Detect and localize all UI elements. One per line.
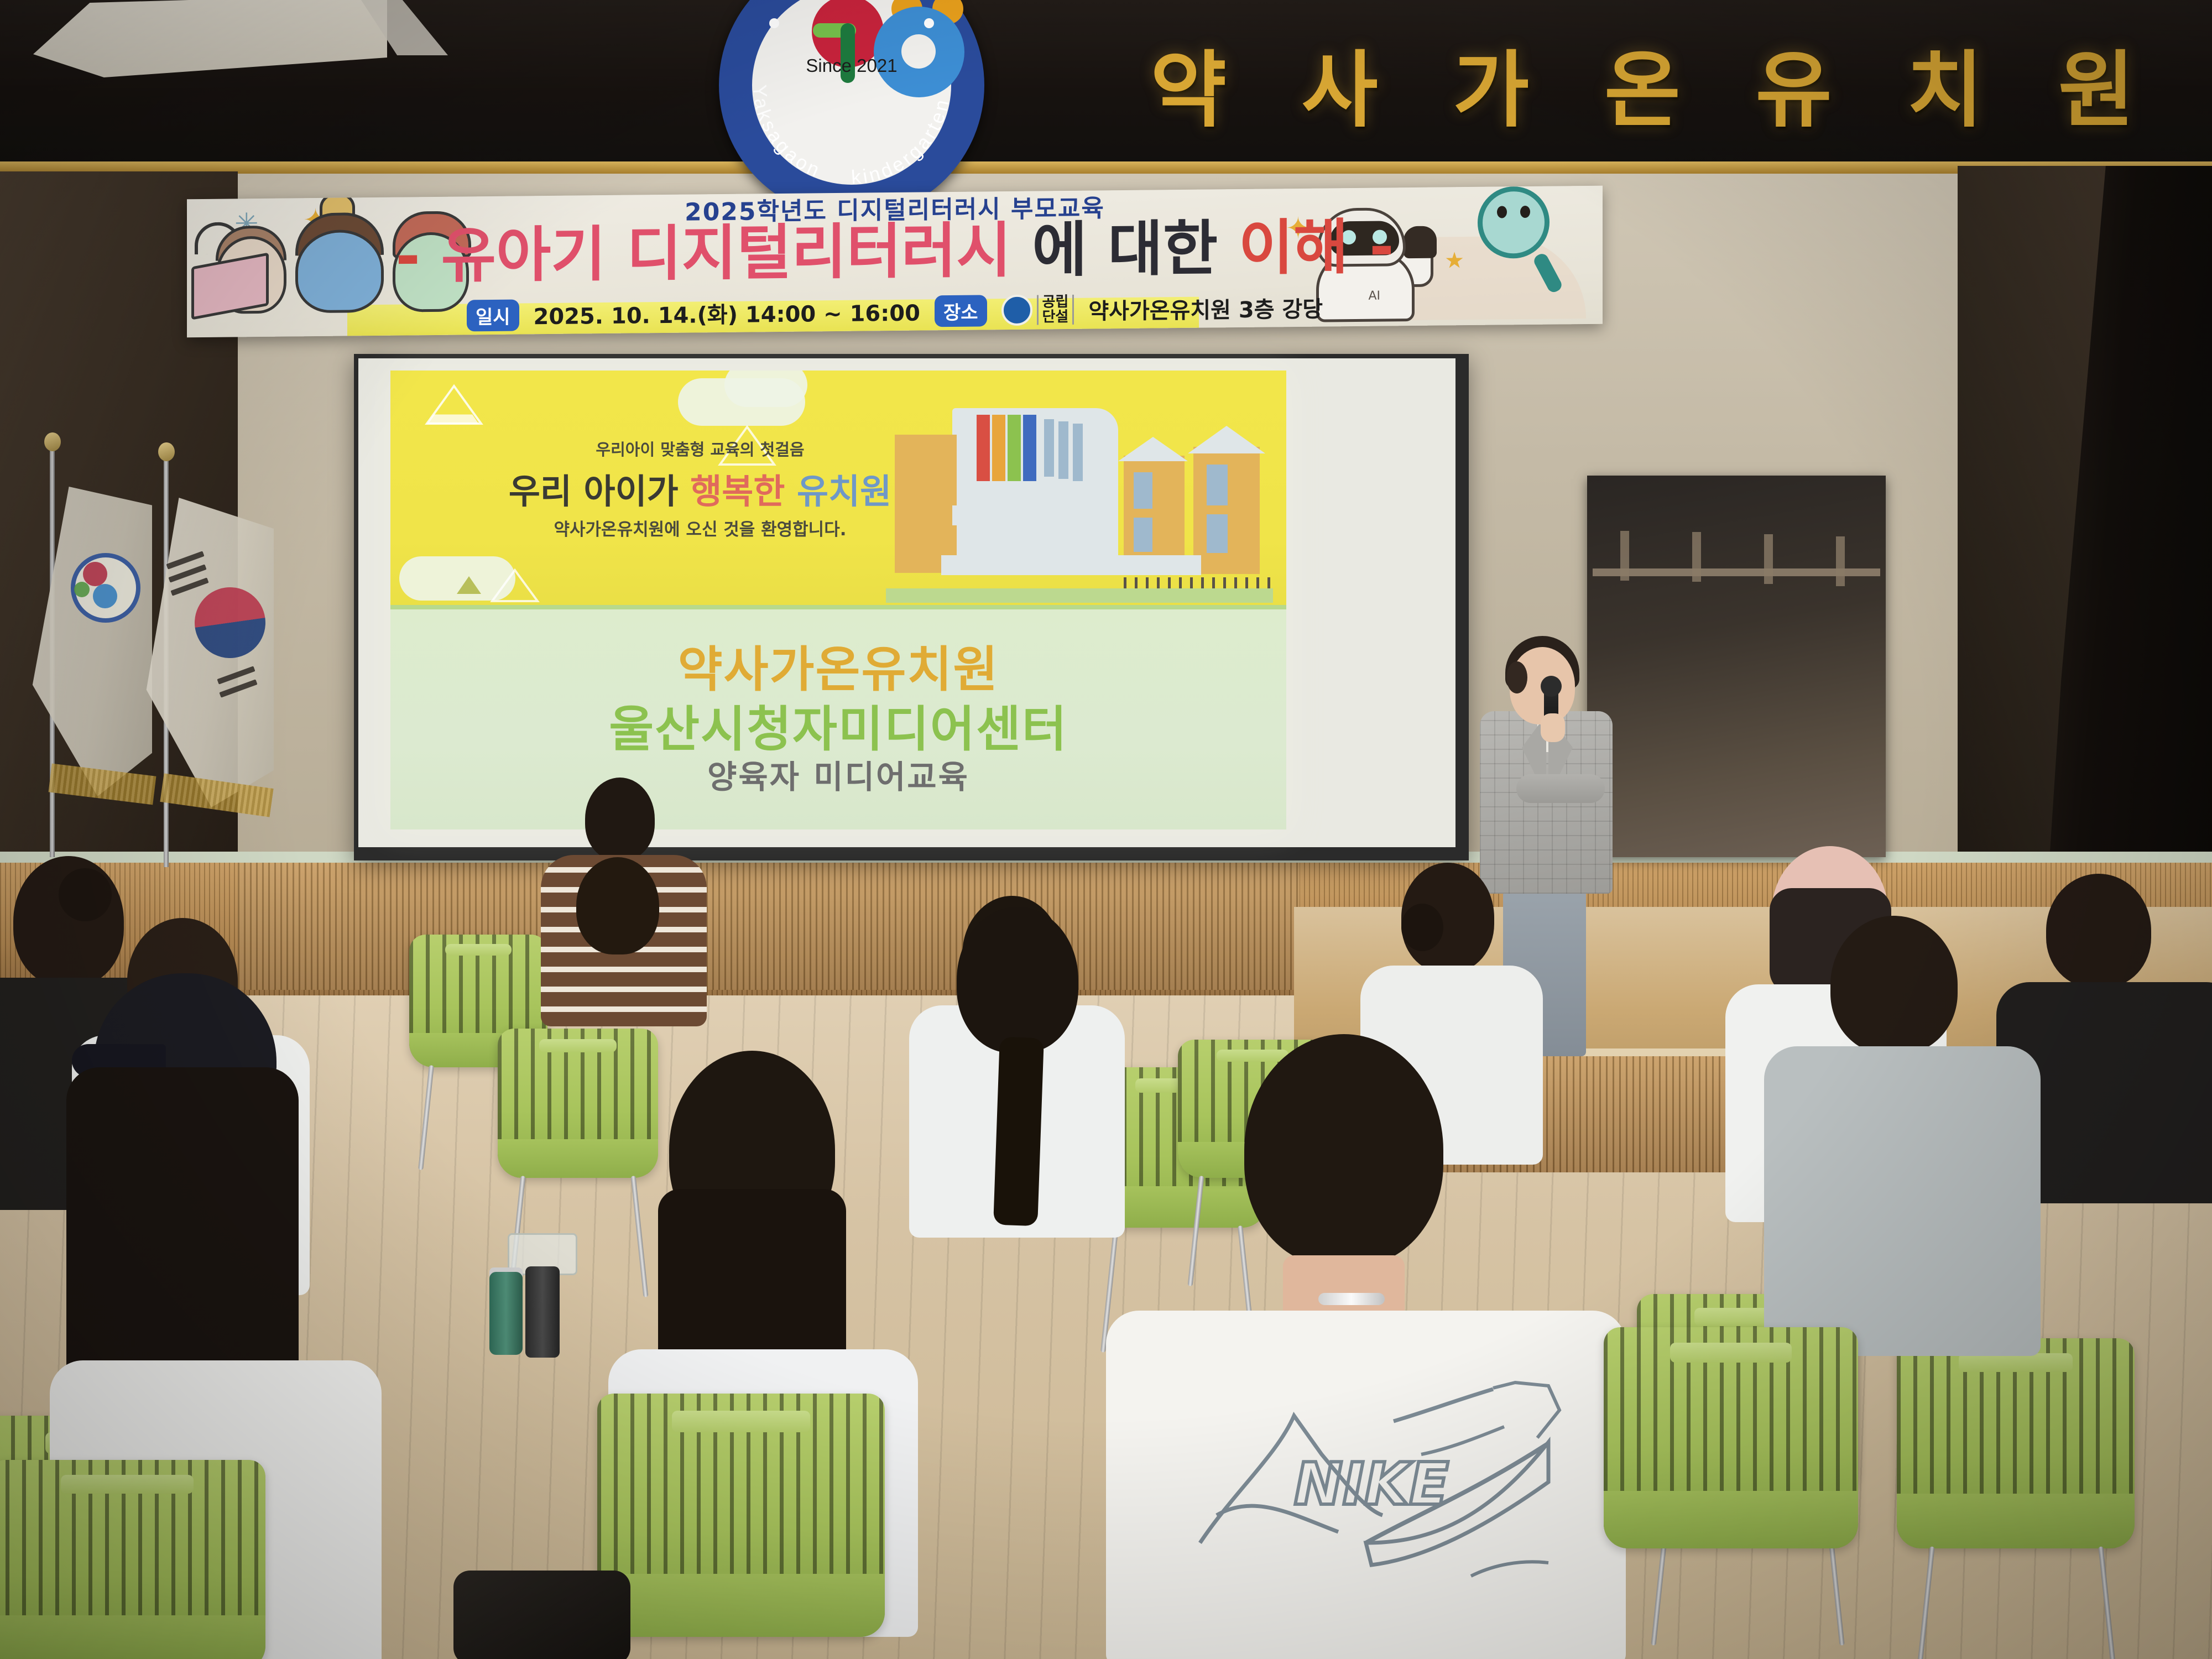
building-left-yellow <box>895 435 957 573</box>
stage-front-left <box>238 863 1300 990</box>
building-window-7 <box>1207 514 1228 553</box>
wall-sign-char-0: 약 <box>1150 23 1227 143</box>
building-window-5 <box>1134 518 1152 552</box>
slide-title-line-2: 울산시청자미디어센터 <box>390 690 1286 760</box>
hair-bun-3 <box>1401 904 1443 951</box>
chair-foreground-3 <box>1604 1327 1858 1548</box>
building-stripe-green <box>1008 415 1021 481</box>
microphone-head-icon <box>1541 676 1562 697</box>
building-window-2 <box>1058 421 1068 479</box>
building-stripe-blue <box>1023 415 1036 481</box>
badge-line-2: 단설 <box>1042 309 1069 325</box>
banner-dash-left: - <box>395 222 420 291</box>
venue-wall-sign: 약 사 가 온 유 치 원 <box>1150 33 2135 133</box>
building-entrance-band <box>941 555 1201 575</box>
banner-place-badge: 공립 단설 <box>1001 294 1074 326</box>
hair-bun-4 <box>59 868 112 921</box>
photo-rail-post-4 <box>1836 536 1845 586</box>
slide-headline-happy: 행복한 <box>690 471 797 512</box>
wall-sign-char-6: 원 <box>2058 23 2135 143</box>
svg-text:kindergarten: kindergarten <box>851 95 953 188</box>
building-stripe-orange <box>992 415 1005 481</box>
building-window-3 <box>1073 424 1083 481</box>
triangle-solid-icon <box>457 576 481 594</box>
building-window-4 <box>1134 472 1152 509</box>
event-banner: ✳ ✦ ✦ ★ AI 2025학년도 디지털리터러시 부모교육 - <box>187 186 1603 338</box>
gold-trim-strip <box>0 161 2212 174</box>
cloud-icon-2 <box>724 371 807 407</box>
flag-finial-national <box>158 442 175 461</box>
building-stripe-red <box>977 415 990 481</box>
banner-date-value: 2025. 10. 14.(화) 14:00 ~ 16:00 <box>534 295 920 331</box>
head-1 <box>585 778 655 860</box>
head-11 <box>957 907 1078 1053</box>
green-tumbler <box>489 1272 523 1355</box>
building-window-1 <box>1044 419 1054 477</box>
wall-photograph <box>1587 476 1886 857</box>
banner-title-part-2: 대한 <box>1108 214 1238 284</box>
nike-wordmark: NIKE <box>1294 1451 1449 1518</box>
banner-dash-right: - <box>1369 212 1394 281</box>
presenter-hand <box>1541 713 1565 742</box>
ponytail-11 <box>993 1037 1044 1227</box>
kindergarten-building-photo <box>886 389 1273 603</box>
building-lawn <box>886 588 1273 603</box>
slide-headline-part1: 우리 아이가 <box>509 471 690 512</box>
photo-rail-post-3 <box>1764 534 1773 584</box>
black-tumbler <box>525 1266 560 1358</box>
wall-sign-char-2: 가 <box>1453 23 1529 143</box>
wall-sign-char-1: 사 <box>1302 23 1378 143</box>
slide-subtitle: 우리아이 맞춤형 교육의 첫걸음 <box>490 437 910 460</box>
photo-rail-post-1 <box>1620 531 1629 581</box>
necklace-icon <box>1318 1293 1385 1305</box>
banner-title-part-3: 이해 <box>1239 213 1349 283</box>
flag-finial-school <box>44 432 61 451</box>
presentation-slide: 우리아이 맞춤형 교육의 첫걸음 우리 아이가 행복한 유치원 약사가온유치원에… <box>390 371 1286 830</box>
presenter-hair-bun <box>1506 661 1527 693</box>
banner-title: - 유아기 디지털리터러시 에 대한 이해 - <box>187 216 1603 289</box>
wall-sign-char-5: 치 <box>1907 23 1983 143</box>
chair-foreground-4 <box>597 1394 885 1637</box>
school-flag-green-dot <box>74 582 90 597</box>
svg-text:Yaksagaon: Yaksagaon <box>749 84 825 182</box>
school-flag-blue-dot <box>93 584 117 608</box>
presenter-folded-arm <box>1516 774 1605 803</box>
emblem-ring-text: Yaksagaon kindergarten <box>719 0 984 218</box>
auditorium-scene: 약 사 가 온 유 치 원 Since 2021 Yaksagaon kinde… <box>0 0 2212 1659</box>
banner-place-label: 장소 <box>935 295 987 327</box>
building-gable-2 <box>1188 426 1265 453</box>
photo-rail-post-2 <box>1692 532 1701 582</box>
slide-headline-part3: 유치원 <box>797 471 891 512</box>
banner-title-part-0: 유아기 디지털리터러시 <box>441 216 1011 291</box>
building-gable-1 <box>1118 437 1188 461</box>
chair-empty-6 <box>1897 1338 2135 1548</box>
chair-foreground-2 <box>0 1460 265 1659</box>
banner-date-label: 일시 <box>467 299 519 331</box>
badge-line-1: 공립 <box>1042 294 1069 310</box>
banner-place-value: 약사가온유치원 3층 강당 <box>1088 291 1323 326</box>
building-window-6 <box>1207 465 1228 505</box>
slide-headline: 우리 아이가 행복한 유치원 <box>457 463 943 513</box>
head-6 <box>576 857 659 954</box>
nike-graphic-icon: NIKE <box>1183 1377 1571 1609</box>
torso-9 <box>1764 1046 2041 1356</box>
banner-place-badge-text: 공립 단설 <box>1037 295 1074 325</box>
head-8 <box>2046 874 2151 988</box>
wall-sign-char-4: 유 <box>1756 23 1832 143</box>
slide-title-line-3: 양육자 미디어교육 <box>390 751 1286 797</box>
triangle-outline-1 <box>424 383 484 427</box>
head-9 <box>1830 916 1958 1054</box>
chair-empty-2 <box>498 1029 658 1178</box>
triangle-outline-3 <box>490 567 540 604</box>
banner-title-part-1: 에 <box>1032 215 1108 285</box>
wall-sign-char-3: 온 <box>1604 23 1681 143</box>
school-seal-icon <box>1001 295 1032 326</box>
building-balcony <box>952 505 1118 525</box>
handbag <box>453 1571 630 1659</box>
school-flag-red-dot <box>83 562 107 586</box>
slide-welcome-text: 약사가온유치원에 오신 것을 환영합니다. <box>468 515 932 540</box>
head-nike <box>1244 1034 1443 1266</box>
